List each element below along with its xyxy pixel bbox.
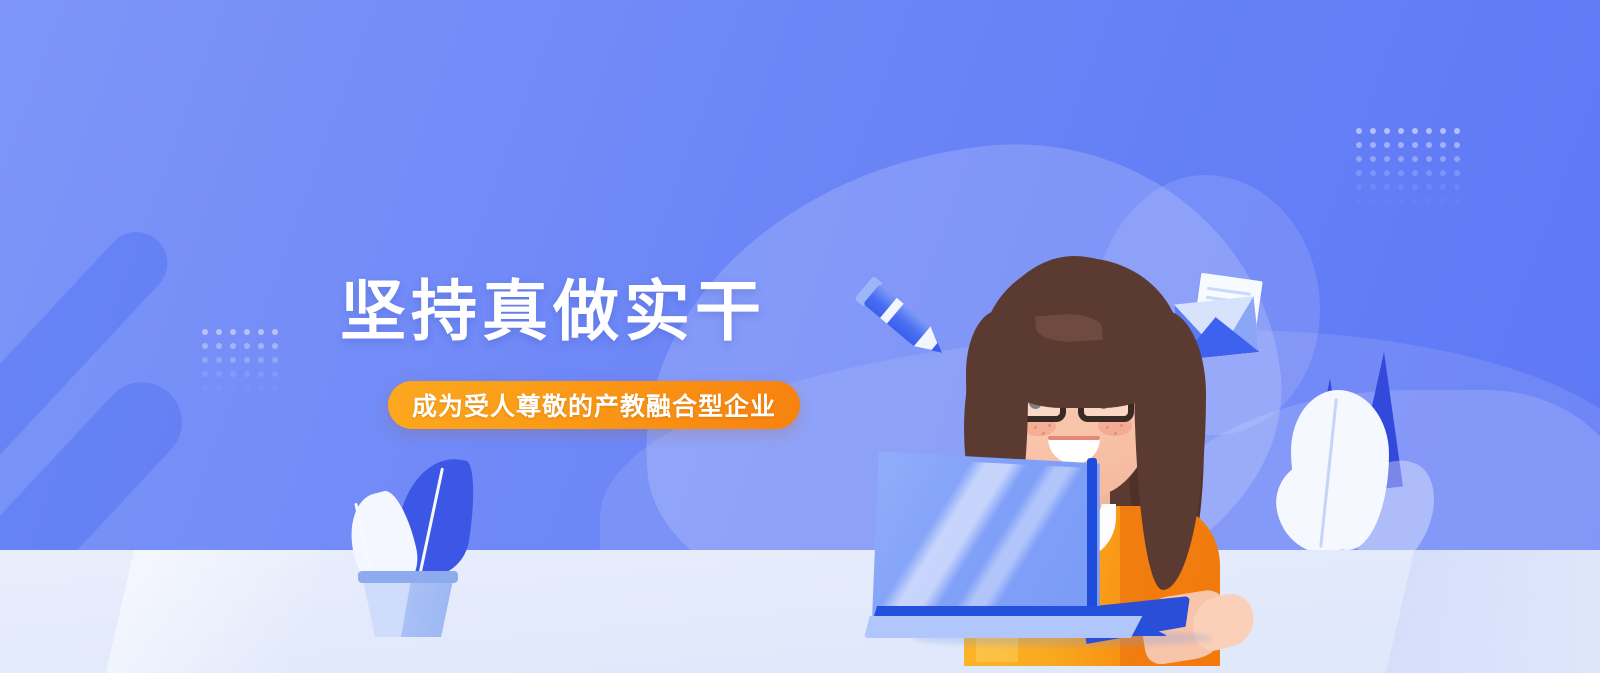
laptop-illustration [872, 448, 1232, 638]
plant-pot [362, 575, 454, 637]
laptop-bezel-edge [1087, 458, 1097, 624]
laptop-base-front [864, 616, 1154, 638]
desk-highlight [1386, 550, 1600, 673]
desk-highlight [106, 550, 324, 673]
dot-grid-decoration-left [198, 325, 282, 395]
subtitle-badge: 成为受人尊敬的产教融合型企业 [388, 381, 800, 429]
page-title: 坚持真做实干 [340, 278, 766, 344]
potted-plant [340, 445, 500, 640]
decorative-leaf [1255, 340, 1435, 555]
desk-surface [0, 550, 1600, 673]
laptop-screen-glare [878, 454, 1118, 624]
plant-pot-rim [358, 571, 458, 583]
hero-banner: 坚持真做实干 成为受人尊敬的产教融合型企业 [0, 0, 1600, 673]
upper-lip [1048, 436, 1100, 440]
dot-grid-decoration-right [1352, 124, 1464, 208]
subtitle-badge-label: 成为受人尊敬的产教融合型企业 [412, 387, 776, 423]
